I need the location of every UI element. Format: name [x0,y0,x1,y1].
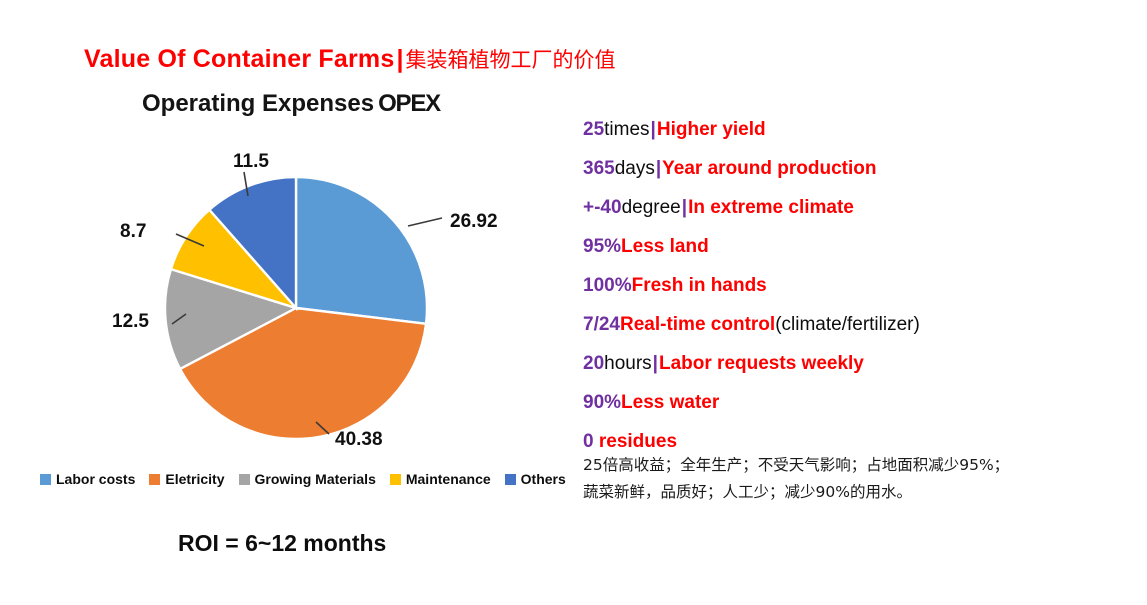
pie-chart-svg: 26.9240.3812.58.711.5 [120,150,520,470]
benefit-row: 365days|Year around production [583,149,1123,188]
chinese-summary-line-2: 蔬菜新鲜，品质好；人工少；减少90%的用水。 [583,479,1113,506]
benefit-metric-value: 0 [583,431,594,452]
benefit-row: 95%Less land [583,227,1123,266]
legend-item-label: Others [521,472,566,486]
legend-item[interactable]: Growing Materials [239,472,376,486]
benefit-metric-value: +-40 [583,197,622,218]
benefit-row: 20hours|Labor requests weekly [583,344,1123,383]
benefit-headline: residues [599,431,677,452]
benefit-headline: Less land [621,236,709,257]
benefit-metric-value: 90% [583,392,621,413]
pie-slice-group [165,177,427,439]
legend-item-label: Maintenance [406,472,491,486]
benefit-metric-value: 7/24 [583,314,620,335]
legend-item-label: Eletricity [165,472,224,486]
benefit-separator: | [681,197,688,218]
pie-value-label: 26.92 [450,211,498,232]
slide-canvas: Value Of Container Farms|集装箱植物工厂的价值 Oper… [0,0,1147,605]
page-title-english: Value Of Container Farms [84,45,394,73]
legend-item[interactable]: Others [505,472,566,486]
pie-leader-line [408,218,442,226]
benefit-headline: Real-time control [620,314,775,335]
legend-item[interactable]: Eletricity [149,472,224,486]
legend-item[interactable]: Maintenance [390,472,491,486]
page-title: Value Of Container Farms|集装箱植物工厂的价值 [84,44,615,74]
benefit-metric-value: 100% [583,275,632,296]
chinese-summary-note: 25倍高收益；全年生产；不受天气影响；占地面积减少95%； 蔬菜新鲜，品质好；人… [583,452,1113,506]
benefit-metric-value: 20 [583,353,604,374]
benefit-metric-unit: hours [604,353,652,374]
benefit-metric-unit: times [604,119,649,140]
benefit-row: 100%Fresh in hands [583,266,1123,305]
legend-swatch-icon [390,474,401,485]
legend-swatch-icon [239,474,250,485]
legend-swatch-icon [40,474,51,485]
benefit-row: +-40degree|In extreme climate [583,188,1123,227]
legend-swatch-icon [149,474,160,485]
benefit-detail: (climate/fertilizer) [775,314,920,335]
benefit-headline: Labor requests weekly [659,353,864,374]
page-title-chinese: 集装箱植物工厂的价值 [405,49,615,72]
pie-value-label: 40.38 [335,429,383,450]
legend-item-label: Labor costs [56,472,135,486]
pie-slice-labor-costs[interactable] [296,177,427,324]
benefit-headline: Year around production [662,158,876,179]
benefit-metric-unit: degree [622,197,681,218]
benefit-row: 90%Less water [583,383,1123,422]
benefit-headline: Less water [621,392,719,413]
benefit-headline: In extreme climate [688,197,854,218]
pie-chart: 26.9240.3812.58.711.5 [120,150,520,470]
benefit-headline: Higher yield [657,119,766,140]
chart-title-main: Operating Expenses [142,90,374,117]
benefit-row: 7/24Real-time control(climate/fertilizer… [583,305,1123,344]
chart-title-opex: OPEX [378,90,440,117]
roi-statement: ROI = 6~12 months [178,530,386,557]
benefit-metric-value: 365 [583,158,615,179]
page-title-separator: | [394,45,405,73]
benefit-headline: Fresh in hands [632,275,767,296]
benefit-separator: | [650,119,657,140]
benefit-row: 25times|Higher yield [583,110,1123,149]
legend-item-label: Growing Materials [255,472,376,486]
legend-swatch-icon [505,474,516,485]
pie-value-label: 8.7 [120,221,146,242]
pie-value-label: 12.5 [112,311,149,332]
chinese-summary-line-1: 25倍高收益；全年生产；不受天气影响；占地面积减少95%； [583,452,1113,479]
benefit-metric-value: 25 [583,119,604,140]
chart-legend: Labor costsEletricityGrowing MaterialsMa… [40,472,566,486]
benefit-separator: | [652,353,659,374]
pie-value-label: 11.5 [233,151,269,172]
benefit-metric-value: 95% [583,236,621,257]
benefit-metric-unit: days [615,158,655,179]
benefits-list: 25times|Higher yield365days|Year around … [583,110,1123,461]
chart-title: Operating ExpensesOPEX [142,90,440,118]
legend-item[interactable]: Labor costs [40,472,135,486]
